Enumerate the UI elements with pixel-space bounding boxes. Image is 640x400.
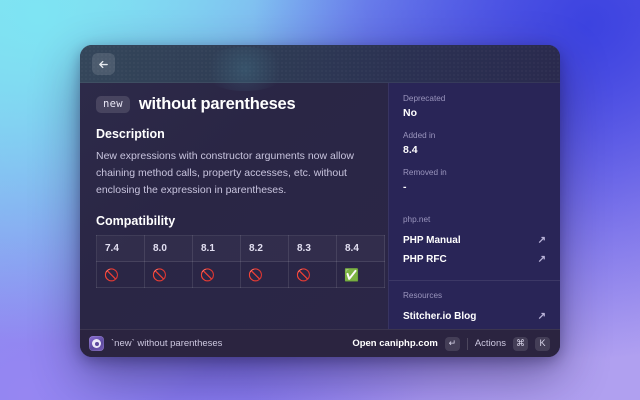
arrow-left-icon: [98, 59, 109, 70]
compatibility-heading: Compatibility: [96, 214, 372, 228]
meta-label-added-in: Added in: [403, 131, 546, 140]
table-header-row: 7.48.08.18.28.38.4: [97, 236, 385, 262]
caniphp-app-icon: [89, 336, 104, 351]
no-entry-icon: 🚫: [200, 269, 215, 281]
status-badge: new: [96, 96, 130, 114]
meta-label-deprecated: Deprecated: [403, 94, 546, 103]
unsupported-cell-8.3: 🚫: [289, 262, 337, 288]
sidebar-link-label: Stitcher.io Blog: [403, 311, 476, 322]
meta-label-removed-in: Removed in: [403, 168, 546, 177]
description-heading: Description: [96, 127, 372, 141]
table-row: 🚫🚫🚫🚫🚫✅: [97, 262, 385, 288]
header-decorative-blob: [200, 47, 290, 91]
check-icon: ✅: [344, 269, 359, 281]
unsupported-cell-8.1: 🚫: [193, 262, 241, 288]
palette-footer: `new` without parentheses Open caniphp.c…: [80, 329, 560, 357]
description-text: New expressions with constructor argumen…: [96, 148, 368, 199]
back-button[interactable]: [92, 53, 115, 75]
link-group-label: Resources: [403, 291, 546, 300]
open-site-button[interactable]: Open caniphp.com: [352, 338, 438, 349]
unsupported-cell-8.0: 🚫: [145, 262, 193, 288]
footer-context-title: `new` without parentheses: [111, 338, 345, 349]
version-header-8.1: 8.1: [193, 236, 241, 262]
palette-body: new without parentheses Description New …: [80, 83, 560, 329]
external-link-icon: ↗: [538, 255, 546, 265]
meta-value-removed-in: -: [403, 181, 546, 193]
unsupported-cell-7.4: 🚫: [97, 262, 145, 288]
version-header-8.2: 8.2: [241, 236, 289, 262]
actions-button[interactable]: Actions: [475, 338, 506, 349]
k-key-badge[interactable]: K: [535, 337, 550, 351]
no-entry-icon: 🚫: [104, 269, 119, 281]
sidebar-link-label: PHP RFC: [403, 254, 447, 265]
no-entry-icon: 🚫: [248, 269, 263, 281]
sidebar-link-php-manual-0[interactable]: PHP Manual↗: [403, 231, 546, 250]
header-texture: [80, 45, 560, 82]
sidebar-link-label: PHP Manual: [403, 235, 461, 246]
enter-key-badge[interactable]: ↵: [445, 337, 460, 351]
no-entry-icon: 🚫: [296, 269, 311, 281]
meta-value-deprecated: No: [403, 107, 546, 119]
supported-cell-8.4: ✅: [337, 262, 385, 288]
page-title: without parentheses: [139, 95, 296, 114]
sidebar-link-php-rfc-1[interactable]: PHP RFC↗: [403, 250, 546, 269]
no-entry-icon: 🚫: [152, 269, 167, 281]
external-link-icon: ↗: [538, 236, 546, 246]
main-content-pane: new without parentheses Description New …: [80, 83, 388, 329]
footer-separator: [467, 338, 468, 350]
entry-title-row: new without parentheses: [96, 95, 372, 114]
metadata-block: DeprecatedNoAdded in8.4Removed in-: [389, 83, 560, 205]
link-group-label: php.net: [403, 215, 546, 224]
command-key-badge[interactable]: ⌘: [513, 337, 528, 351]
version-header-7.4: 7.4: [97, 236, 145, 262]
version-header-8.0: 8.0: [145, 236, 193, 262]
version-header-8.3: 8.3: [289, 236, 337, 262]
compatibility-table: 7.48.08.18.28.38.4 🚫🚫🚫🚫🚫✅: [96, 235, 385, 288]
external-link-icon: ↗: [538, 312, 546, 322]
details-sidebar: DeprecatedNoAdded in8.4Removed in- php.n…: [388, 83, 560, 329]
sidebar-link-stitcher-io-blog-0[interactable]: Stitcher.io Blog↗: [403, 307, 546, 326]
unsupported-cell-8.2: 🚫: [241, 262, 289, 288]
command-palette-window: new without parentheses Description New …: [80, 45, 560, 357]
palette-header: [80, 45, 560, 83]
version-header-8.4: 8.4: [337, 236, 385, 262]
link-group-php-net: php.netPHP Manual↗PHP RFC↗: [389, 205, 560, 280]
elephant-glyph: [92, 339, 101, 348]
meta-value-added-in: 8.4: [403, 144, 546, 156]
